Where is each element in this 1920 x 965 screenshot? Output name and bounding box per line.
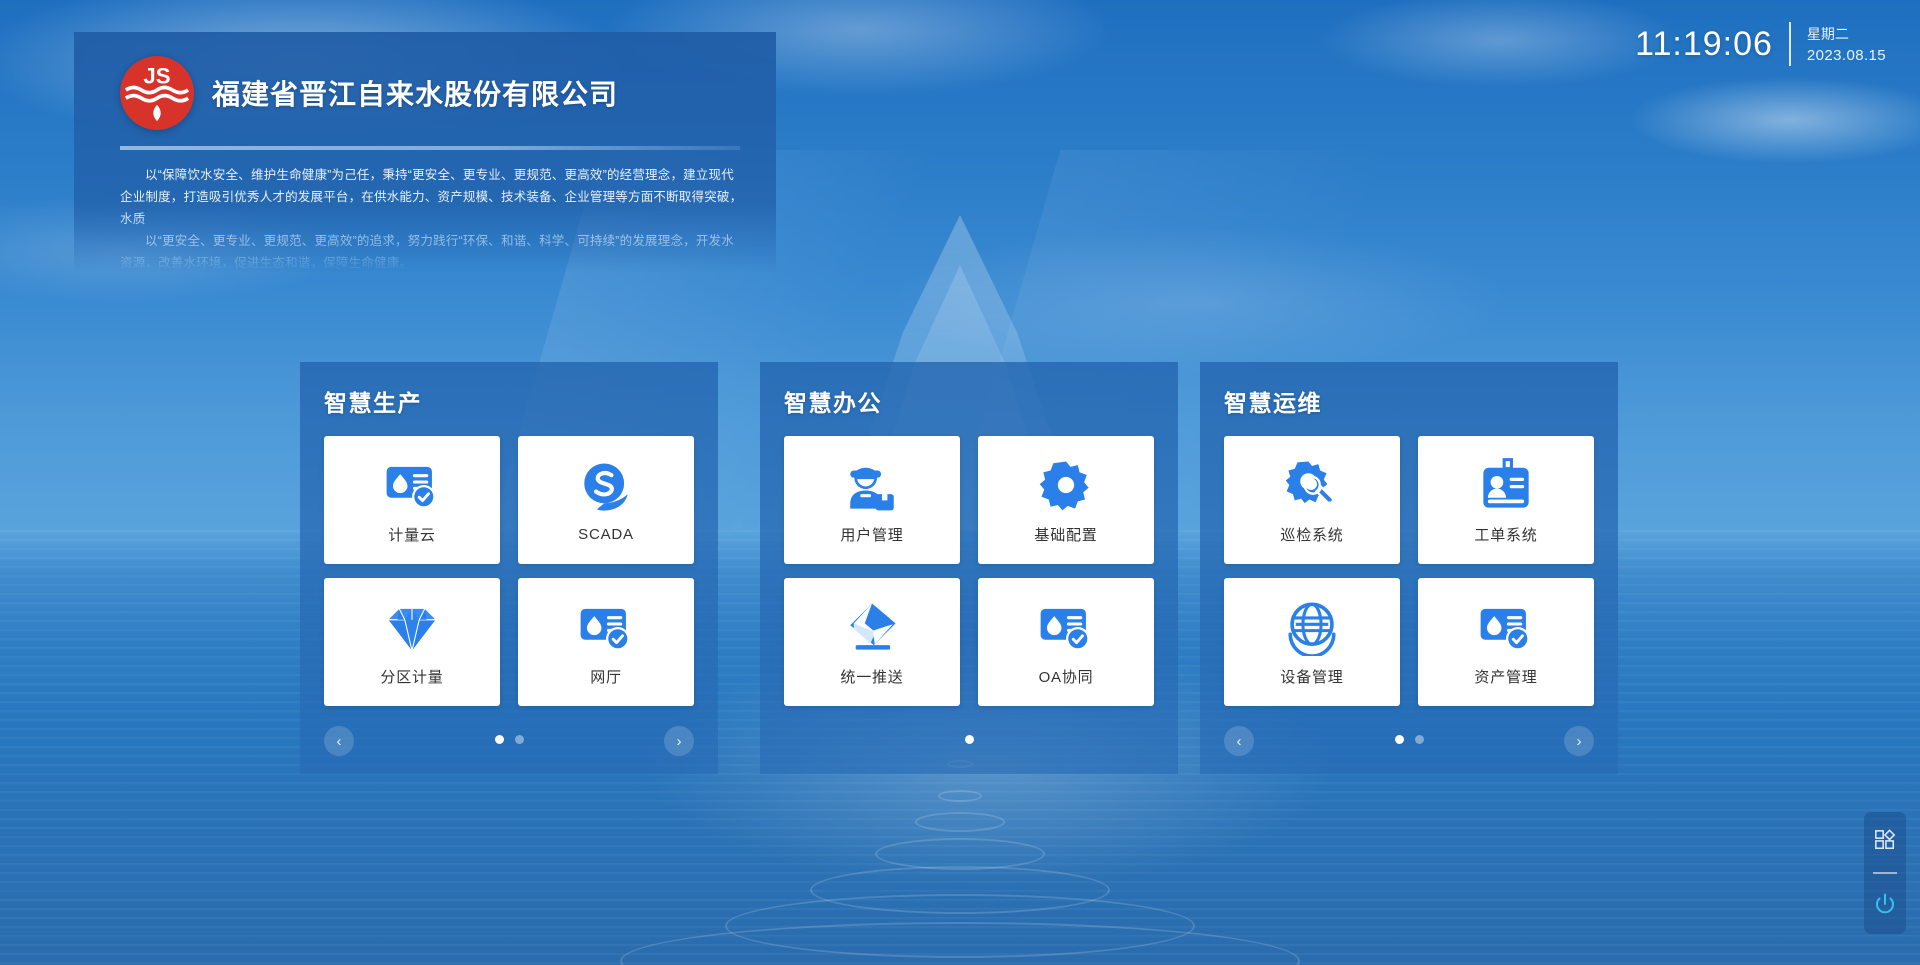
company-name: 福建省晋江自来水股份有限公司 [212,73,618,113]
clock-date-block: 星期二 2023.08.15 [1807,24,1886,64]
ripple-1 [938,790,982,802]
tile-jiliangyun[interactable]: 计量云 [324,436,500,564]
clock-divider [1789,22,1791,66]
header-clock: 11:19:06 星期二 2023.08.15 [1635,22,1886,66]
tile-label: 巡检系统 [1280,524,1343,545]
right-dock [1864,812,1906,934]
panel-smart-production: 智慧生产 计量云 SCADA [300,362,718,774]
water-card-check-icon [1037,598,1095,656]
pager-dot[interactable] [1395,735,1404,744]
gear-wrench-icon [1283,456,1341,514]
dock-divider [1873,872,1897,874]
tile-basic-config[interactable]: 基础配置 [978,436,1154,564]
pager-dot[interactable] [1415,735,1424,744]
pager-next-button[interactable]: › [664,726,694,756]
pager-dots [300,735,718,744]
tile-label: 计量云 [388,524,435,545]
panel-smart-office: 智慧办公 用户管理 [760,362,1178,774]
tile-label: 统一推送 [840,666,903,687]
pager-dot[interactable] [495,735,504,744]
pager-dots [760,735,1178,744]
power-icon[interactable] [1873,892,1897,916]
company-description: 以“保障饮水安全、维护生命健康”为己任，秉持“更安全、更专业、更规范、更高效”的… [104,164,744,274]
tile-work-order-system[interactable]: 工单系统 [1418,436,1594,564]
tile-asset-management[interactable]: 资产管理 [1418,578,1594,706]
panel-title-smart-ops: 智慧运维 [1224,384,1594,418]
tile-grid-smart-ops: 巡检系统 工单系统 [1224,436,1594,706]
tile-label: 网厅 [590,666,622,687]
pager-smart-office [760,726,1178,760]
diamond-icon [383,598,441,656]
tile-fenqujiliang[interactable]: 分区计量 [324,578,500,706]
globe-icon [1283,598,1341,656]
tile-grid-smart-office: 用户管理 基础配置 统一推送 [784,436,1154,706]
ripple-2 [915,812,1005,832]
tile-oa[interactable]: OA协同 [978,578,1154,706]
tile-scada[interactable]: SCADA [518,436,694,564]
tile-label: 资产管理 [1474,666,1537,687]
tile-label: SCADA [578,526,634,543]
clock-date: 2023.08.15 [1807,47,1886,64]
company-header: JS 福建省晋江自来水股份有限公司 [104,56,746,130]
company-logo-icon: JS [120,56,194,130]
id-badge-icon [1477,456,1535,514]
panel-title-smart-production: 智慧生产 [324,384,694,418]
pager-smart-production: ‹ › [300,726,718,760]
apps-grid-icon[interactable] [1873,828,1897,852]
tile-inspection-system[interactable]: 巡检系统 [1224,436,1400,564]
pager-dot[interactable] [965,735,974,744]
tile-label: OA协同 [1039,666,1094,687]
company-info-card: JS 福建省晋江自来水股份有限公司 以“保障饮水安全、维护生命健康”为己任，秉持… [74,32,776,272]
clock-time: 11:19:06 [1635,25,1773,64]
pager-dots [1200,735,1618,744]
tile-label: 工单系统 [1474,524,1537,545]
tile-label: 用户管理 [840,524,903,545]
pager-dot[interactable] [515,735,524,744]
company-divider [120,146,740,150]
tile-device-management[interactable]: 设备管理 [1224,578,1400,706]
envelope-push-icon [843,598,901,656]
tile-label: 设备管理 [1280,666,1343,687]
panel-title-smart-office: 智慧办公 [784,384,1154,418]
pager-smart-ops: ‹ › [1200,726,1618,760]
company-paragraph-2: 以“更安全、更专业、更规范、更高效”的追求，努力践行“环保、和谐、科学、可持续”… [120,230,744,274]
pager-next-button[interactable]: › [1564,726,1594,756]
clock-weekday: 星期二 [1807,24,1886,44]
water-card-check-icon [383,456,441,514]
scada-bubble-s-icon [577,458,635,516]
company-paragraph-1: 以“保障饮水安全、维护生命健康”为己任，秉持“更安全、更专业、更规范、更高效”的… [120,164,744,230]
water-card-check-icon [577,598,635,656]
user-manage-icon [843,456,901,514]
svg-text:JS: JS [143,63,170,88]
tile-user-management[interactable]: 用户管理 [784,436,960,564]
panel-smart-ops: 智慧运维 巡检系统 [1200,362,1618,774]
tile-unified-push[interactable]: 统一推送 [784,578,960,706]
tile-label: 基础配置 [1034,524,1097,545]
tile-label: 分区计量 [380,666,443,687]
water-card-check-icon [1477,598,1535,656]
tile-wangting[interactable]: 网厅 [518,578,694,706]
tile-grid-smart-production: 计量云 SCADA [324,436,694,706]
gear-icon [1037,456,1095,514]
